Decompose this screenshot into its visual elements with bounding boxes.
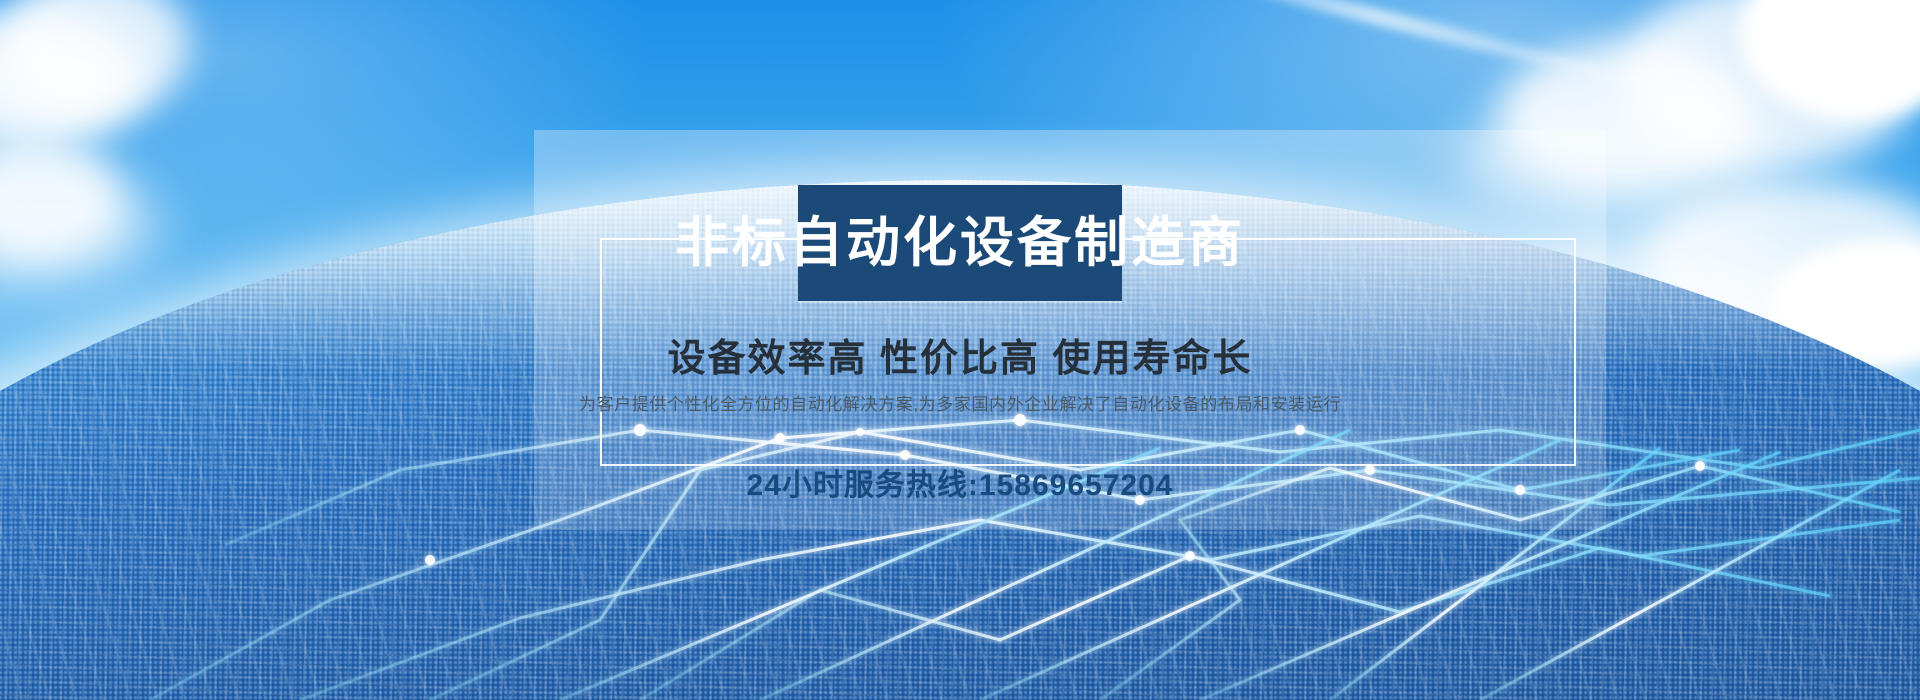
page-title: 非标自动化设备制造商 xyxy=(675,216,1245,270)
hero-banner: 非标自动化设备制造商 设备效率高 性价比高 使用寿命长 为客户提供个性化全方位的… xyxy=(0,0,1920,700)
airplane-contrail-icon xyxy=(1136,0,1644,91)
service-hotline: 24小时服务热线:15869657204 xyxy=(0,460,1920,504)
banner-description: 为客户提供个性化全方位的自动化解决方案,为多家国内外企业解决了自动化设备的布局和… xyxy=(0,390,1920,415)
cloud-top-left xyxy=(0,0,260,160)
banner-subtitle: 设备效率高 性价比高 使用寿命长 xyxy=(0,327,1920,382)
main-title-box: 非标自动化设备制造商 xyxy=(798,185,1122,301)
